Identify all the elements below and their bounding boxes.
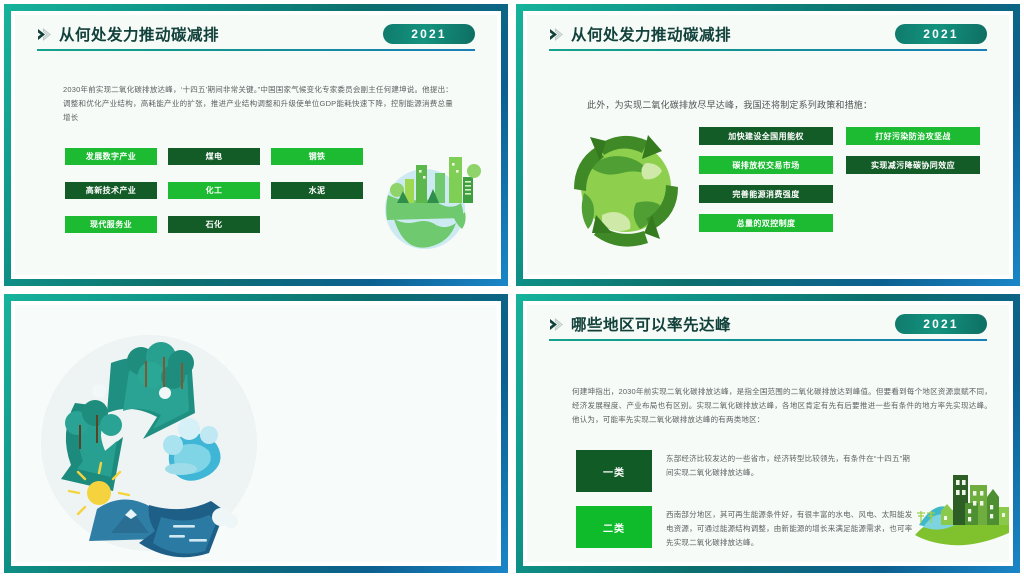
tag-item[interactable]: 现代服务业 (65, 216, 157, 233)
tag-item[interactable]: 碳排放权交易市场 (699, 156, 833, 174)
tag-item[interactable]: 钢铁 (271, 148, 363, 165)
slide-canvas: 04 哪些地区可以率先达峰 (15, 305, 497, 562)
slide-canvas: 从何处发力推动碳减排 2021 此外，为实现二氧化碳排放尽早达峰，我国还将制定系… (527, 15, 1009, 275)
page-title: 从何处发力推动碳减排 (571, 23, 731, 45)
slide-frame-inner: 从何处发力推动碳减排 2021 此外，为实现二氧化碳排放尽早达峰，我国还将制定系… (523, 11, 1013, 279)
header-left-group: 哪些地区可以率先达峰 (549, 313, 731, 335)
page-title: 从何处发力推动碳减排 (59, 23, 219, 45)
tag-item[interactable]: 高新技术产业 (65, 182, 157, 199)
double-chevron-icon (549, 27, 564, 42)
slide-frame: 04 哪些地区可以率先达峰 (4, 294, 508, 573)
slide-2[interactable]: 从何处发力推动碳减排 2021 此外，为实现二氧化碳排放尽早达峰，我国还将制定系… (512, 0, 1024, 290)
tag-item[interactable]: 化工 (168, 182, 260, 199)
slide-1[interactable]: 从何处发力推动碳减排 2021 2030年前实现二氧化碳排放达峰，‘十四五’期间… (0, 0, 512, 290)
double-chevron-icon (549, 317, 564, 332)
slide-header: 从何处发力推动碳减排 2021 (15, 15, 497, 55)
slide-frame: 哪些地区可以率先达峰 2021 何建坤指出，2030年前实现二氧化碳排放达峰，是… (516, 294, 1020, 573)
body-paragraph: 2030年前实现二氧化碳排放达峰，‘十四五’期间非常关键。”中国国家气候变化专家… (63, 83, 453, 125)
tag-item[interactable]: 实现减污降碳协同效应 (846, 156, 980, 174)
tag-item[interactable]: 发展数字产业 (65, 148, 157, 165)
slide-header: 从何处发力推动碳减排 2021 (527, 15, 1009, 55)
tag-item[interactable]: 煤电 (168, 148, 260, 165)
slide-frame-inner: 04 哪些地区可以率先达峰 (11, 301, 501, 566)
industry-tag-grid: 发展数字产业 煤电 钢铁 高新技术产业 化工 水泥 现代服务业 石化 (65, 148, 363, 233)
tag-item[interactable]: 加快建设全国用能权 (699, 127, 833, 145)
category-description: 东部经济比较发达的一些省市，经济转型比较领先，有条件在“十四五”期间实现二氧化碳… (666, 450, 916, 480)
page-title: 哪些地区可以率先达峰 (571, 313, 731, 335)
green-buildings-hill-illustration (909, 449, 1009, 557)
double-chevron-icon (37, 27, 52, 42)
slide-3[interactable]: 04 哪些地区可以率先达峰 (0, 290, 512, 577)
slide-canvas: 哪些地区可以率先达峰 2021 何建坤指出，2030年前实现二氧化碳排放达峰，是… (527, 305, 1009, 562)
tag-item[interactable]: 石化 (168, 216, 260, 233)
year-badge: 2021 (895, 24, 987, 44)
nature-cycle-illustration (33, 327, 265, 559)
body-paragraph: 何建坤指出，2030年前实现二氧化碳排放达峰，是指全国范围的二氧化碳排放达到峰值… (572, 385, 992, 427)
header-left-group: 从何处发力推动碳减排 (37, 23, 219, 45)
slide-frame: 从何处发力推动碳减排 2021 2030年前实现二氧化碳排放达峰，‘十四五’期间… (4, 4, 508, 286)
slide-header: 哪些地区可以率先达峰 2021 (527, 305, 1009, 345)
header-left-group: 从何处发力推动碳减排 (549, 23, 731, 45)
slide-frame-inner: 哪些地区可以率先达峰 2021 何建坤指出，2030年前实现二氧化碳排放达峰，是… (523, 301, 1013, 566)
category-description: 西南部分地区，其可再生能源条件好，有很丰富的水电、风电、太阳能发电资源，可通过能… (666, 506, 916, 550)
category-chip[interactable]: 二类 (576, 506, 652, 548)
slide-4[interactable]: 哪些地区可以率先达峰 2021 何建坤指出，2030年前实现二氧化碳排放达峰，是… (512, 290, 1024, 577)
recycling-globe-illustration (560, 119, 692, 251)
year-badge: 2021 (383, 24, 475, 44)
year-badge: 2021 (895, 314, 987, 334)
tag-item[interactable]: 总量的双控制度 (699, 214, 833, 232)
tag-grid-spacer (846, 185, 980, 203)
tag-item[interactable]: 完善能源消费强度 (699, 185, 833, 203)
tag-item[interactable]: 打好污染防治攻坚战 (846, 127, 980, 145)
header-divider (549, 49, 987, 51)
header-divider (37, 49, 475, 51)
slide-frame-inner: 从何处发力推动碳减排 2021 2030年前实现二氧化碳排放达峰，‘十四五’期间… (11, 11, 501, 279)
slide-canvas: 从何处发力推动碳减排 2021 2030年前实现二氧化碳排放达峰，‘十四五’期间… (15, 15, 497, 275)
slide-deck: 从何处发力推动碳减排 2021 2030年前实现二氧化碳排放达峰，‘十四五’期间… (0, 0, 1024, 577)
body-paragraph: 此外，为实现二氧化碳排放尽早达峰，我国还将制定系列政策和措施： (587, 97, 987, 114)
tag-item[interactable]: 水泥 (271, 182, 363, 199)
category-chip[interactable]: 一类 (576, 450, 652, 492)
green-city-globe-illustration (361, 127, 489, 252)
policy-tag-grid: 加快建设全国用能权 打好污染防治攻坚战 碳排放权交易市场 实现减污降碳协同效应 … (699, 127, 980, 232)
header-divider (549, 339, 987, 341)
slide-frame: 从何处发力推动碳减排 2021 此外，为实现二氧化碳排放尽早达峰，我国还将制定系… (516, 4, 1020, 286)
